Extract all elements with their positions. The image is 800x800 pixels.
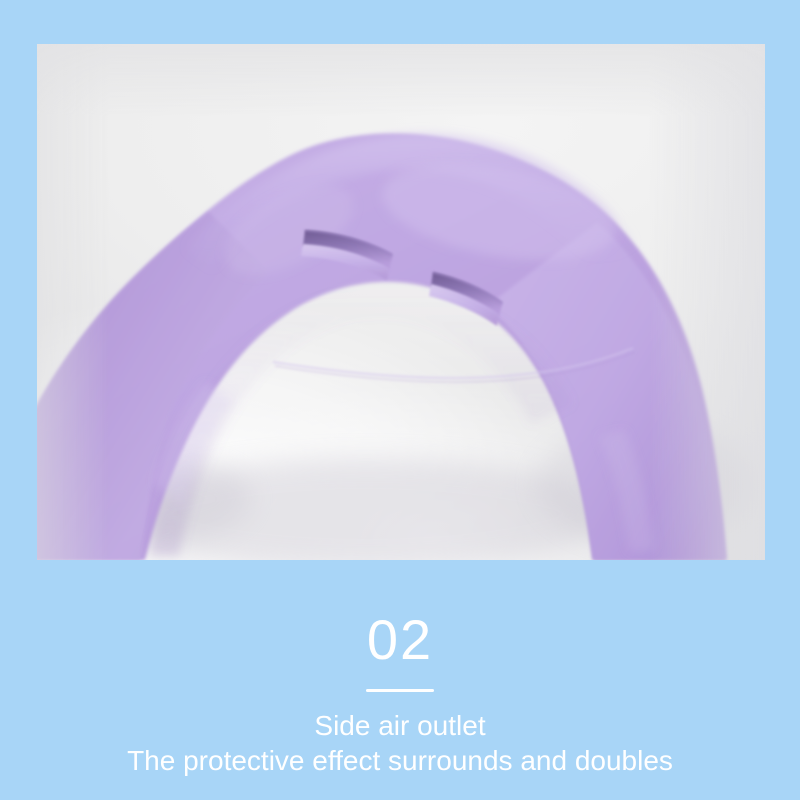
caption-subtext: The protective effect surrounds and doub…: [0, 743, 800, 779]
product-photo: [37, 44, 765, 560]
caption-headline: Side air outlet: [0, 708, 800, 744]
photo-vignette: [37, 44, 765, 560]
product-feature-card: 02 Side air outlet The protective effect…: [0, 0, 800, 800]
step-number: 02: [0, 612, 800, 668]
caption-divider: [366, 689, 434, 692]
caption-block: 02 Side air outlet The protective effect…: [0, 560, 800, 800]
